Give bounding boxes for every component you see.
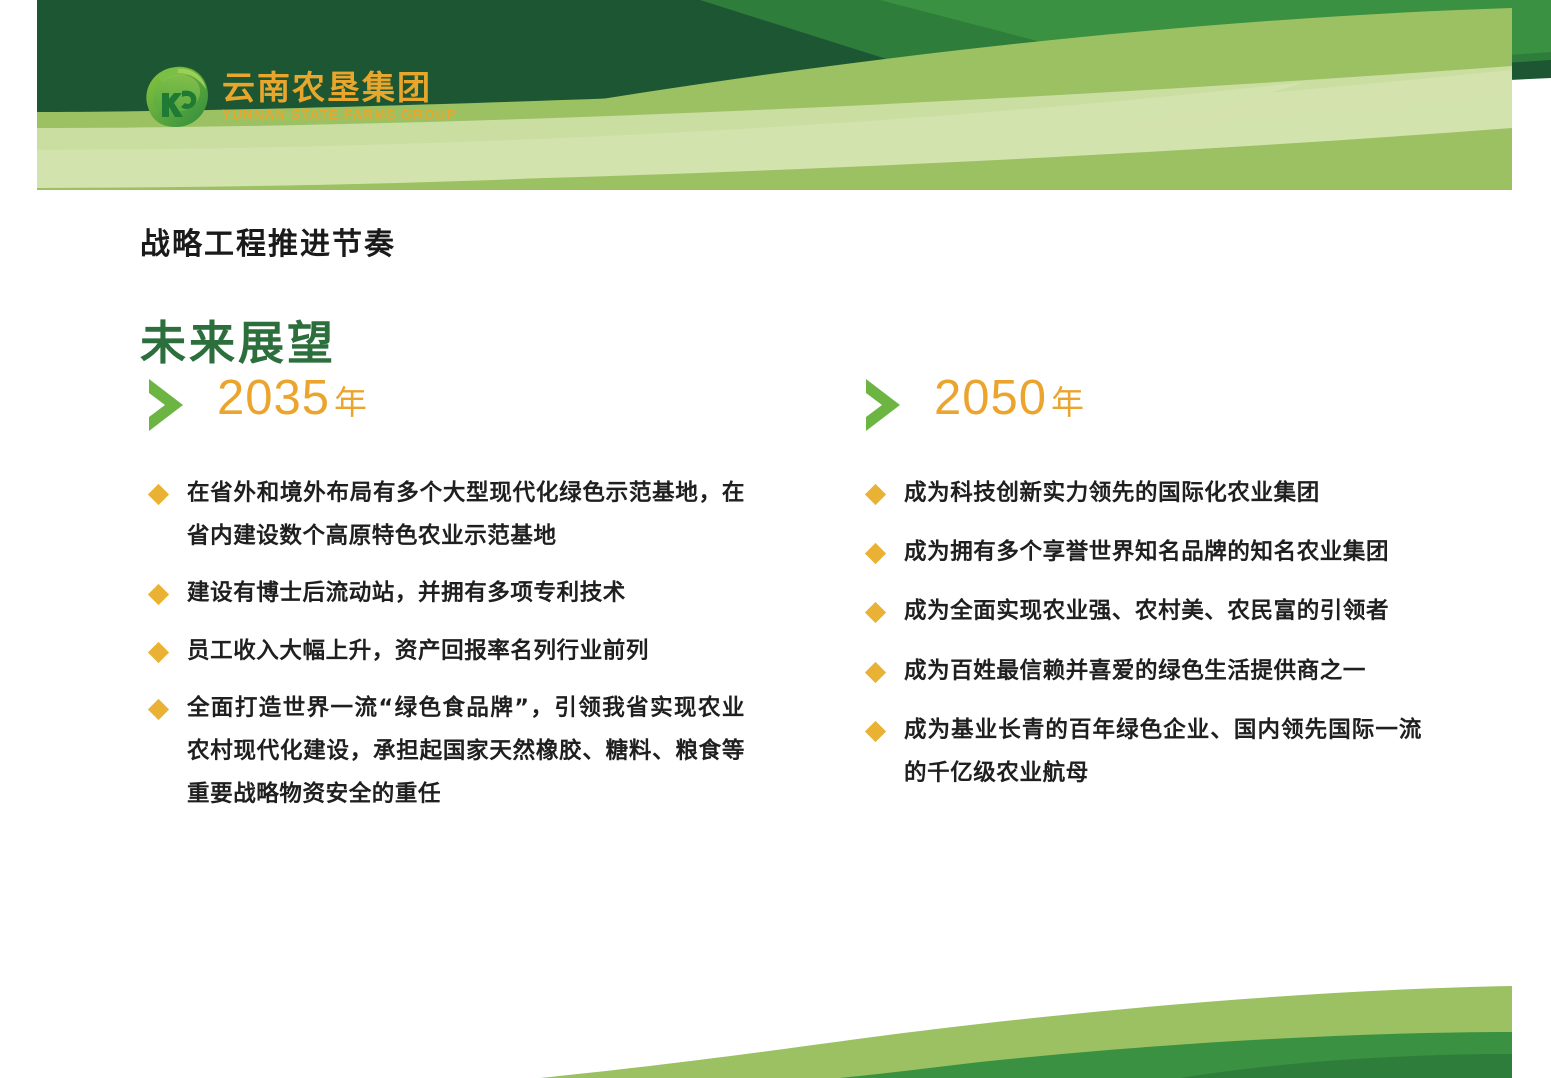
yunnan-state-farms-leaf-logo-icon xyxy=(138,61,212,131)
bullet-list-2035: 在省外和境外布局有多个大型现代化绿色示范基地，在省内建设数个高原特色农业示范基地… xyxy=(145,472,745,816)
milestone-column-2050: 2050年 成为科技创新实力领先的国际化农业集团 成为拥有多个享誉世界知名品牌的… xyxy=(862,370,1422,811)
bottom-wave-decoration xyxy=(0,958,1551,1078)
slide-root: 云南农垦集团 YUNNAN STATE FARMS GROUP 战略工程推进节奏… xyxy=(0,0,1551,1078)
chevron-right-icon xyxy=(145,377,189,433)
year-value: 2035 xyxy=(217,371,330,425)
year-label-2050: 2050年 xyxy=(934,370,1085,426)
list-item: 成为基业长青的百年绿色企业、国内领先国际一流的千亿级农业航母 xyxy=(862,709,1422,795)
chevron-right-icon xyxy=(862,377,906,433)
year-label-2035: 2035年 xyxy=(217,370,368,426)
list-item: 全面打造世界一流“绿色食品牌”，引领我省实现农业农村现代化建设，承担起国家天然橡… xyxy=(145,687,745,817)
year-value: 2050 xyxy=(934,371,1047,425)
list-item: 员工收入大幅上升，资产回报率名列行业前列 xyxy=(145,630,745,673)
list-item: 成为全面实现农业强、农村美、农民富的引领者 xyxy=(862,590,1422,633)
milestone-column-2035: 2035年 在省外和境外布局有多个大型现代化绿色示范基地，在省内建设数个高原特色… xyxy=(145,370,745,830)
year-suffix: 年 xyxy=(334,384,368,421)
brand-name-en: YUNNAN STATE FARMS GROUP xyxy=(222,108,456,122)
page-title: 未来展望 xyxy=(140,307,336,373)
year-header-2050: 2050年 xyxy=(862,370,1422,440)
list-item: 建设有博士后流动站，并拥有多项专利技术 xyxy=(145,572,745,615)
section-kicker: 战略工程推进节奏 xyxy=(140,219,396,263)
brand-logo: 云南农垦集团 YUNNAN STATE FARMS GROUP xyxy=(138,60,456,132)
list-item: 在省外和境外布局有多个大型现代化绿色示范基地，在省内建设数个高原特色农业示范基地 xyxy=(145,472,745,558)
year-header-2035: 2035年 xyxy=(145,370,745,440)
bullet-list-2050: 成为科技创新实力领先的国际化农业集团 成为拥有多个享誉世界知名品牌的知名农业集团… xyxy=(862,472,1422,795)
year-suffix: 年 xyxy=(1051,384,1085,421)
list-item: 成为百姓最信赖并喜爱的绿色生活提供商之一 xyxy=(862,650,1422,693)
list-item: 成为科技创新实力领先的国际化农业集团 xyxy=(862,472,1422,515)
brand-name-cn: 云南农垦集团 xyxy=(222,71,456,104)
list-item: 成为拥有多个享誉世界知名品牌的知名农业集团 xyxy=(862,531,1422,574)
